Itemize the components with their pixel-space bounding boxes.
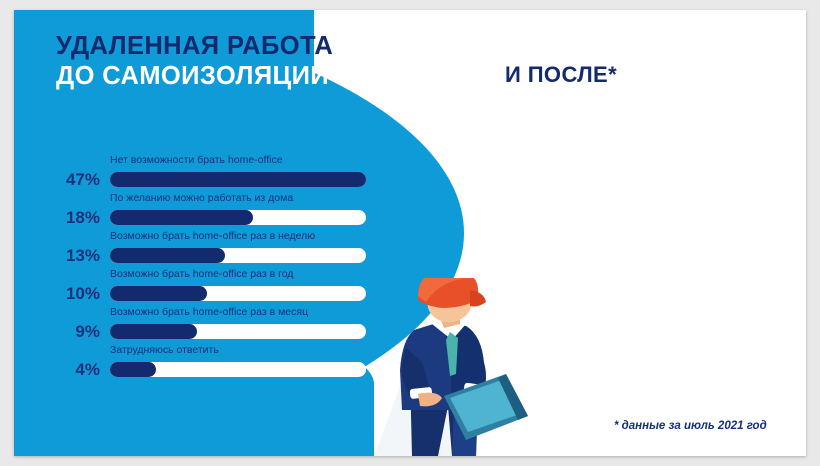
bar-label: Затрудняюсь ответить	[110, 344, 219, 356]
bar-track	[110, 248, 366, 263]
bar-value: 10%	[28, 284, 100, 304]
bar-track	[110, 362, 366, 377]
title-right: И ПОСЛЕ*	[505, 62, 617, 88]
bar-fill	[110, 324, 197, 339]
bar-track	[110, 324, 366, 339]
bar-value: 47%	[28, 170, 100, 190]
bar-label: Нет возможности брать home-office	[110, 154, 283, 166]
bar-label: Возможно брать home-office раз в неделю	[110, 230, 315, 242]
bar-track	[110, 210, 366, 225]
bar-fill	[110, 248, 225, 263]
bar-fill	[110, 362, 156, 377]
infographic-canvas: УДАЛЕННАЯ РАБОТА ДО САМОИЗОЛЯЦИИ И ПОСЛЕ…	[14, 10, 806, 456]
bar-fill	[110, 172, 366, 187]
footnote-text: * данные за июль 2021 год	[614, 420, 767, 432]
bar-fill	[110, 210, 253, 225]
bar-value: 13%	[28, 246, 100, 266]
bar-value: 9%	[28, 322, 100, 342]
bar-label: Возможно брать home-office раз в год	[110, 268, 293, 280]
bar-track	[110, 172, 366, 187]
bar-label: По желанию можно работать из дома	[110, 192, 293, 204]
businessman-illustration	[366, 278, 546, 456]
title-line-1: УДАЛЕННАЯ РАБОТА	[56, 32, 386, 62]
bar-track	[110, 286, 366, 301]
page-title: УДАЛЕННАЯ РАБОТА ДО САМОИЗОЛЯЦИИ	[56, 32, 386, 91]
bar-value: 18%	[28, 208, 100, 228]
title-line-2: ДО САМОИЗОЛЯЦИИ	[56, 62, 386, 92]
bar-fill	[110, 286, 207, 301]
bar-value: 4%	[28, 360, 100, 380]
bar-label: Возможно брать home-office раз в месяц	[110, 306, 308, 318]
